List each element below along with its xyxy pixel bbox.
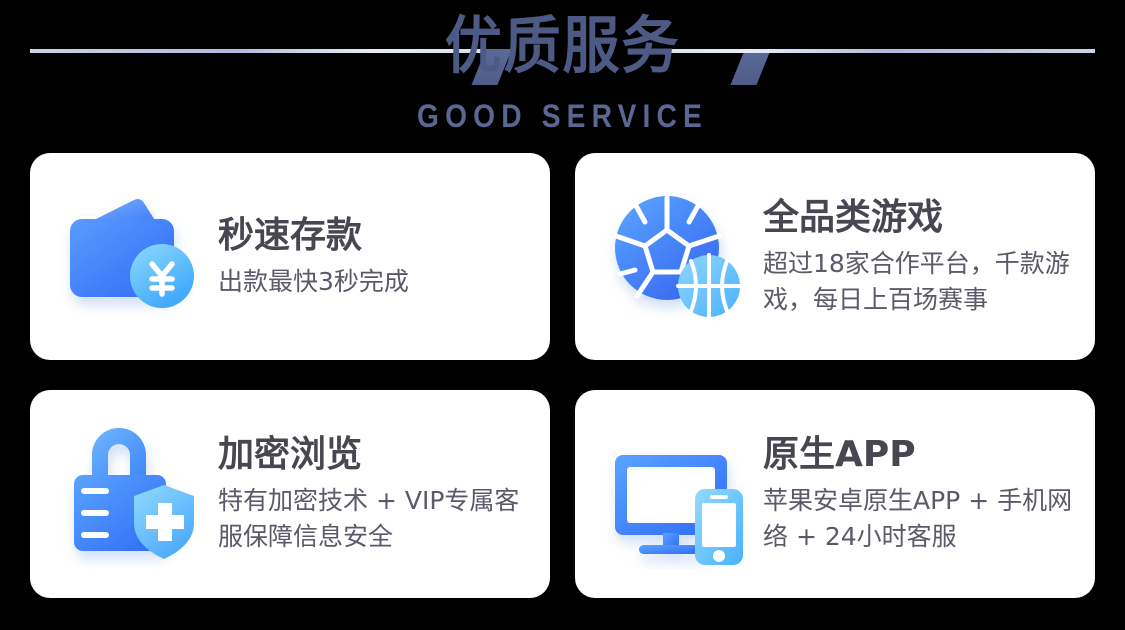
feature-card-native-app[interactable]: 原生APP 苹果安卓原生APP + 手机网络 + 24小时客服 (575, 390, 1095, 598)
good-service-banner: 优质服务 GOOD SERVICE (0, 0, 1125, 630)
feature-card-desc: 特有加密技术 + VIP专属客服保障信息安全 (218, 483, 536, 555)
monitor-phone-icon (605, 419, 755, 569)
feature-card-title: 原生APP (763, 433, 1081, 477)
feature-card-text: 秒速存款 出款最快3秒完成 (210, 214, 550, 300)
feature-card-desc: 出款最快3秒完成 (218, 264, 536, 300)
feature-card-title: 加密浏览 (218, 433, 536, 477)
feature-card-encryption[interactable]: 加密浏览 特有加密技术 + VIP专属客服保障信息安全 (30, 390, 550, 598)
lock-shield-icon (60, 419, 210, 569)
soccer-basketball-icon (605, 182, 755, 332)
feature-card-text: 全品类游戏 超过18家合作平台，千款游戏，每日上百场赛事 (755, 196, 1095, 318)
wallet-yen-icon (60, 182, 210, 332)
header: 优质服务 GOOD SERVICE (0, 0, 1125, 150)
feature-card-deposit[interactable]: 秒速存款 出款最快3秒完成 (30, 153, 550, 360)
feature-card-title: 秒速存款 (218, 214, 536, 258)
feature-card-desc: 超过18家合作平台，千款游戏，每日上百场赛事 (763, 246, 1081, 318)
page-subtitle: GOOD SERVICE (68, 97, 1058, 135)
feature-card-text: 加密浏览 特有加密技术 + VIP专属客服保障信息安全 (210, 433, 550, 555)
feature-card-text: 原生APP 苹果安卓原生APP + 手机网络 + 24小时客服 (755, 433, 1095, 555)
feature-card-title: 全品类游戏 (763, 196, 1081, 240)
feature-card-grid: 秒速存款 出款最快3秒完成 (30, 153, 1095, 598)
feature-card-games[interactable]: 全品类游戏 超过18家合作平台，千款游戏，每日上百场赛事 (575, 153, 1095, 360)
page-title: 优质服务 (45, 7, 1080, 85)
feature-card-desc: 苹果安卓原生APP + 手机网络 + 24小时客服 (763, 483, 1081, 555)
